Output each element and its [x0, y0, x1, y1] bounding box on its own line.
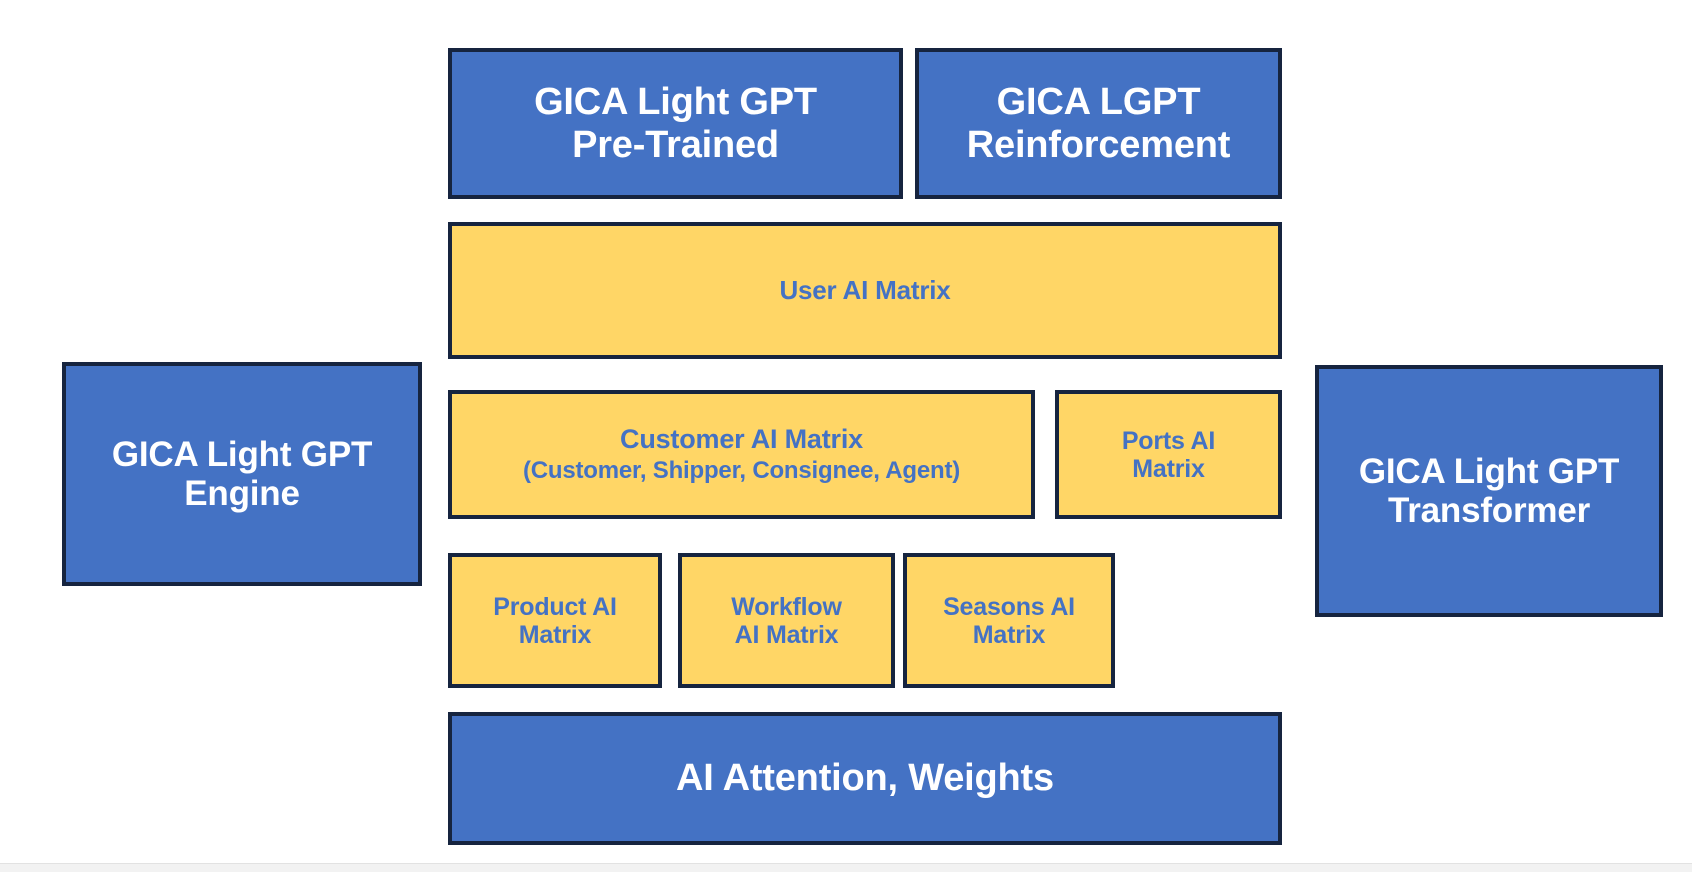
node-customer-ai-matrix[interactable]: Customer AI Matrix (Customer, Shipper, C…: [448, 390, 1035, 519]
node-label-line2: Matrix: [973, 621, 1045, 649]
node-label-line1: AI Attention, Weights: [676, 757, 1054, 800]
node-label-line1: Seasons AI: [943, 593, 1075, 621]
node-label-line1: GICA LGPT: [997, 81, 1201, 124]
node-product-ai-matrix[interactable]: Product AI Matrix: [448, 553, 662, 688]
node-ports-ai-matrix[interactable]: Ports AI Matrix: [1055, 390, 1282, 519]
node-label-line1: Workflow: [731, 593, 841, 621]
node-label-line1: Ports AI: [1122, 427, 1215, 455]
diagram-canvas: GICA Light GPT Pre-Trained GICA LGPT Rei…: [0, 0, 1692, 872]
node-label-line2: Matrix: [1132, 455, 1204, 483]
node-ai-attention-weights[interactable]: AI Attention, Weights: [448, 712, 1282, 845]
footer-strip: [0, 863, 1692, 872]
node-label-line1: Product AI: [493, 593, 616, 621]
node-label-line2: AI Matrix: [735, 621, 839, 649]
node-label-line2: Reinforcement: [967, 124, 1230, 167]
node-label-line1: GICA Light GPT: [112, 435, 372, 474]
node-seasons-ai-matrix[interactable]: Seasons AI Matrix: [903, 553, 1115, 688]
node-label-line2: Matrix: [519, 621, 591, 649]
node-label-line2: Transformer: [1388, 491, 1590, 530]
node-user-ai-matrix[interactable]: User AI Matrix: [448, 222, 1282, 359]
node-gica-lgpt-reinforcement[interactable]: GICA LGPT Reinforcement: [915, 48, 1282, 199]
node-label-line1: GICA Light GPT: [1359, 452, 1619, 491]
node-gica-light-gpt-transformer[interactable]: GICA Light GPT Transformer: [1315, 365, 1663, 617]
node-label-line1: GICA Light GPT: [534, 81, 817, 124]
node-gica-light-gpt-engine[interactable]: GICA Light GPT Engine: [62, 362, 422, 586]
node-label-line2: Engine: [184, 474, 299, 513]
node-label-line2: Pre-Trained: [572, 124, 779, 167]
node-label-line2: (Customer, Shipper, Consignee, Agent): [523, 458, 960, 485]
node-gica-light-gpt-pre-trained[interactable]: GICA Light GPT Pre-Trained: [448, 48, 903, 199]
node-label-line1: Customer AI Matrix: [620, 424, 863, 454]
node-label-line1: User AI Matrix: [779, 276, 950, 305]
node-workflow-ai-matrix[interactable]: Workflow AI Matrix: [678, 553, 895, 688]
